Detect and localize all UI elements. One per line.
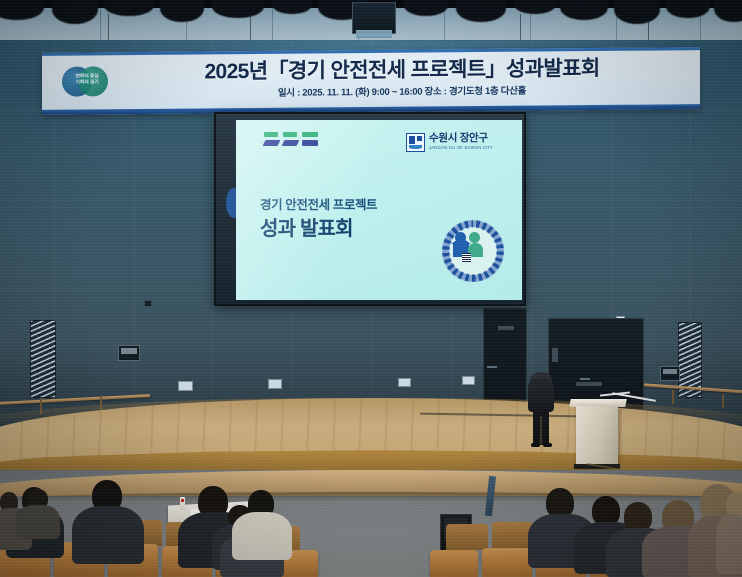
suwon-name-kr: 수원시 장안구 [429, 132, 509, 145]
wall-plate-a [178, 381, 193, 391]
slide-title: 성과 발표회 [260, 212, 353, 241]
slide-subtitle: 경기 안전전세 프로젝트 [260, 194, 377, 213]
emblem-qr-icon [462, 253, 471, 262]
podium [576, 406, 618, 466]
projection-screen-frame: 수원시 장안구 JANGAN-GU OF SUWON CITY 경기 안전전세 … [214, 112, 526, 306]
gyeonggi-slogan-logo: 변화의 중심 기회의 경기 [62, 64, 110, 98]
suwon-name-en: JANGAN-GU OF SUWON CITY [429, 145, 511, 151]
seat[interactable] [446, 524, 488, 550]
wall-control-panel-left[interactable] [118, 345, 140, 361]
wall-plate-d [462, 376, 475, 385]
suwon-emblem-mark [406, 133, 425, 152]
wall-speaker [144, 300, 152, 307]
auditorium-photo: 변화의 중심 기회의 경기 2025년「경기 안전전세 프로젝트」성과발표회 일… [0, 0, 742, 577]
safety-jeonse-emblem [442, 220, 504, 282]
water-bottle [180, 497, 185, 510]
banner-title: 2025년「경기 안전전세 프로젝트」성과발표회 [116, 53, 688, 88]
banner-logo-line2: 기회의 경기 [66, 79, 108, 85]
wall-plate-c [398, 378, 411, 387]
event-banner: 변화의 중심 기회의 경기 2025년「경기 안전전세 프로젝트」성과발표회 일… [42, 47, 700, 115]
seat[interactable] [430, 550, 478, 577]
wall-plate-b [268, 379, 282, 389]
projection-screen: 수원시 장안구 JANGAN-GU OF SUWON CITY 경기 안전전세 … [236, 120, 522, 300]
suwon-jangan-logo: 수원시 장안구 JANGAN-GU OF SUWON CITY [406, 132, 510, 156]
wall-vent-left [30, 320, 56, 398]
seat[interactable] [482, 548, 532, 577]
stage-door-left[interactable] [483, 308, 527, 404]
wall-control-panel-right[interactable] [660, 366, 680, 381]
projector-lens [356, 30, 392, 38]
presenter-body [528, 378, 554, 412]
gyeonggi-gg-logo [264, 132, 322, 156]
